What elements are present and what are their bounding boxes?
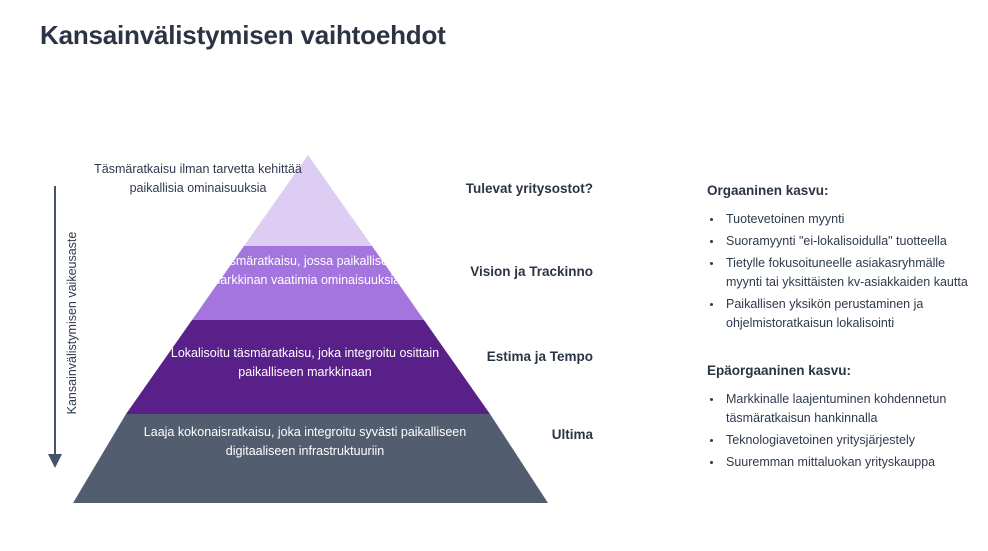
pyramid-shapes xyxy=(60,148,570,510)
pyramid-tier-4-label: Ultima xyxy=(313,427,593,442)
list-item: Markkinalle laajentuminen kohdennetun tä… xyxy=(707,390,979,428)
pyramid-tier-3-shape xyxy=(126,320,490,414)
inorganic-growth-block: Epäorgaaninen kasvu: Markkinalle laajent… xyxy=(707,363,979,472)
axis-arrow-line xyxy=(54,186,56,460)
pyramid-tier-3-label: Estima ja Tempo xyxy=(313,349,593,364)
inorganic-growth-heading: Epäorgaaninen kasvu: xyxy=(707,363,979,378)
list-item: Suuremman mittaluokan yrityskauppa xyxy=(707,453,979,472)
list-item: Paikallisen yksikön perustaminen ja ohje… xyxy=(707,295,979,333)
pyramid-tier-1-label: Tulevat yritysostot? xyxy=(313,181,593,196)
inorganic-growth-list: Markkinalle laajentuminen kohdennetun tä… xyxy=(707,390,979,472)
organic-growth-heading: Orgaaninen kasvu: xyxy=(707,183,979,198)
list-item: Suoramyynti "ei-lokalisoidulla" tuotteel… xyxy=(707,232,979,251)
page-title: Kansainvälistymisen vaihtoehdot xyxy=(40,20,446,51)
list-item: Tuotevetoinen myynti xyxy=(707,210,979,229)
pyramid-tier-2-shape xyxy=(192,246,424,320)
list-item: Teknologiavetoinen yritysjärjestely xyxy=(707,431,979,450)
pyramid-tier-1-shape xyxy=(244,155,372,246)
pyramid-diagram: Täsmäratkaisu ilman tarvetta kehittää pa… xyxy=(60,148,570,510)
growth-options-column: Orgaaninen kasvu: Tuotevetoinen myynti S… xyxy=(707,183,979,475)
pyramid-tier-2-label: Vision ja Trackinno xyxy=(313,264,593,279)
list-item: Tietylle fokusoituneelle asiakasryhmälle… xyxy=(707,254,979,292)
organic-growth-list: Tuotevetoinen myynti Suoramyynti "ei-lok… xyxy=(707,210,979,333)
organic-growth-block: Orgaaninen kasvu: Tuotevetoinen myynti S… xyxy=(707,183,979,333)
